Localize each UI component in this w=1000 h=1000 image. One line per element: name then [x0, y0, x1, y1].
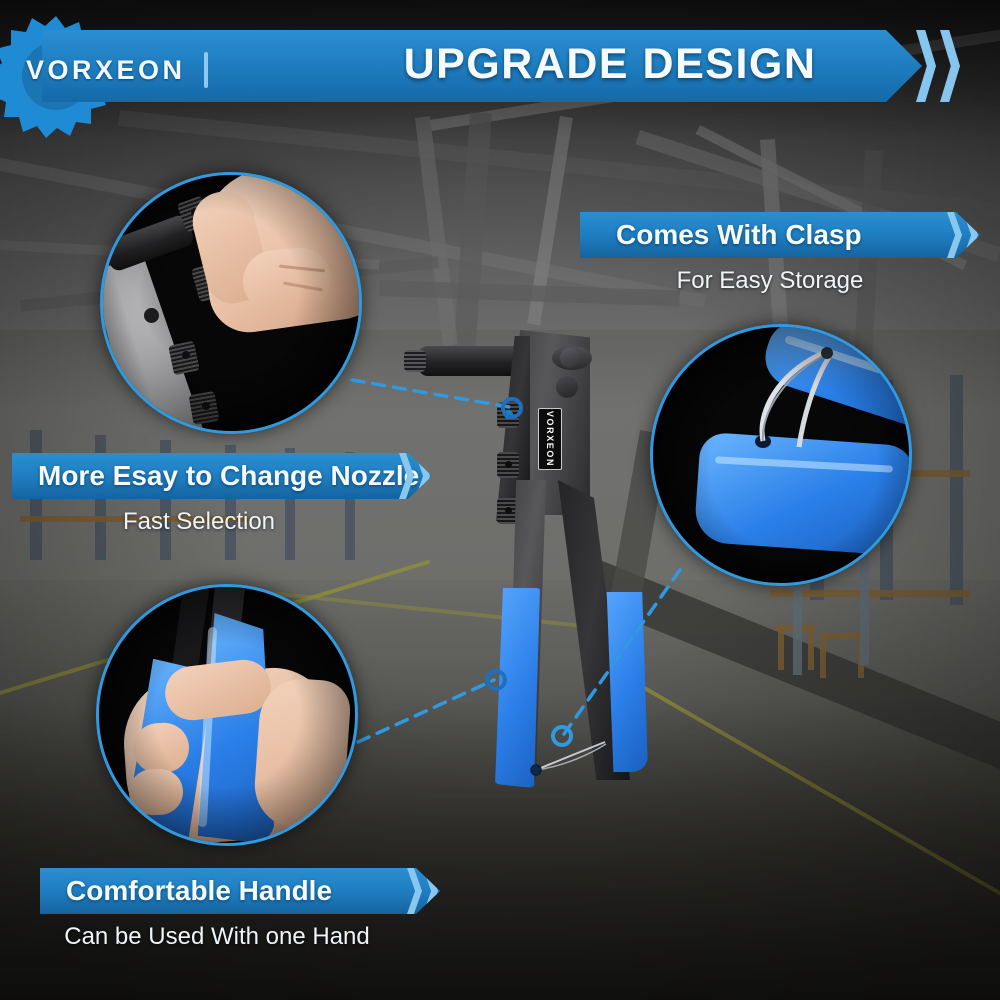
callout-clasp-bar: Comes With Clasp	[580, 212, 980, 258]
brand-logo-text: VORXEON	[26, 55, 186, 86]
product-infographic: VORXEON	[0, 0, 1000, 1000]
inset-shadow	[653, 327, 909, 583]
spare-nozzle-hole	[504, 410, 513, 419]
product-head-bolt	[556, 376, 578, 398]
chevron-right-icon	[947, 212, 962, 258]
callout-nozzle-subtitle: Fast Selection	[12, 508, 432, 536]
callout-handle-subtitle: Can be Used With one Hand	[40, 923, 440, 951]
logo-divider	[204, 52, 208, 88]
product-head-bolt	[560, 348, 580, 368]
product-nose-cap	[404, 350, 426, 372]
callout-handle: Comfortable Handle Can be Used With one …	[40, 868, 440, 951]
product-brand-label: VORXEON	[538, 408, 562, 470]
chevron-right-icon	[423, 868, 438, 914]
inset-shadow	[103, 175, 359, 431]
product-rivet-gun: VORXEON	[400, 330, 690, 830]
header-banner: VORXEON UPGRADE DESIGN	[0, 14, 1000, 114]
inset-clasp	[650, 324, 912, 586]
spare-nozzle-hole	[505, 507, 512, 514]
inset-shadow	[99, 587, 355, 843]
callout-clasp-title: Comes With Clasp	[616, 219, 862, 251]
callout-handle-title: Comfortable Handle	[66, 875, 332, 907]
spare-nozzle-hole	[505, 461, 512, 468]
callout-nozzle-title: More Esay to Change Nozzle	[38, 460, 419, 492]
chevron-right-icon	[407, 868, 422, 914]
callout-clasp: Comes With Clasp For Easy Storage	[580, 212, 980, 295]
inset-comfortable-handle	[96, 584, 358, 846]
page-title: UPGRADE DESIGN	[330, 40, 890, 89]
inset-nozzle-change	[100, 172, 362, 434]
chevron-right-icon	[940, 30, 960, 102]
product-left-handle-grip	[492, 588, 542, 788]
callout-handle-bar: Comfortable Handle	[40, 868, 440, 914]
callout-clasp-subtitle: For Easy Storage	[580, 267, 980, 295]
product-brand-text: VORXEON	[545, 411, 555, 467]
chevron-right-icon	[963, 212, 978, 258]
callout-nozzle: More Esay to Change Nozzle Fast Selectio…	[12, 453, 432, 536]
callout-nozzle-bar: More Esay to Change Nozzle	[12, 453, 432, 499]
brand-logo: VORXEON	[26, 52, 208, 88]
